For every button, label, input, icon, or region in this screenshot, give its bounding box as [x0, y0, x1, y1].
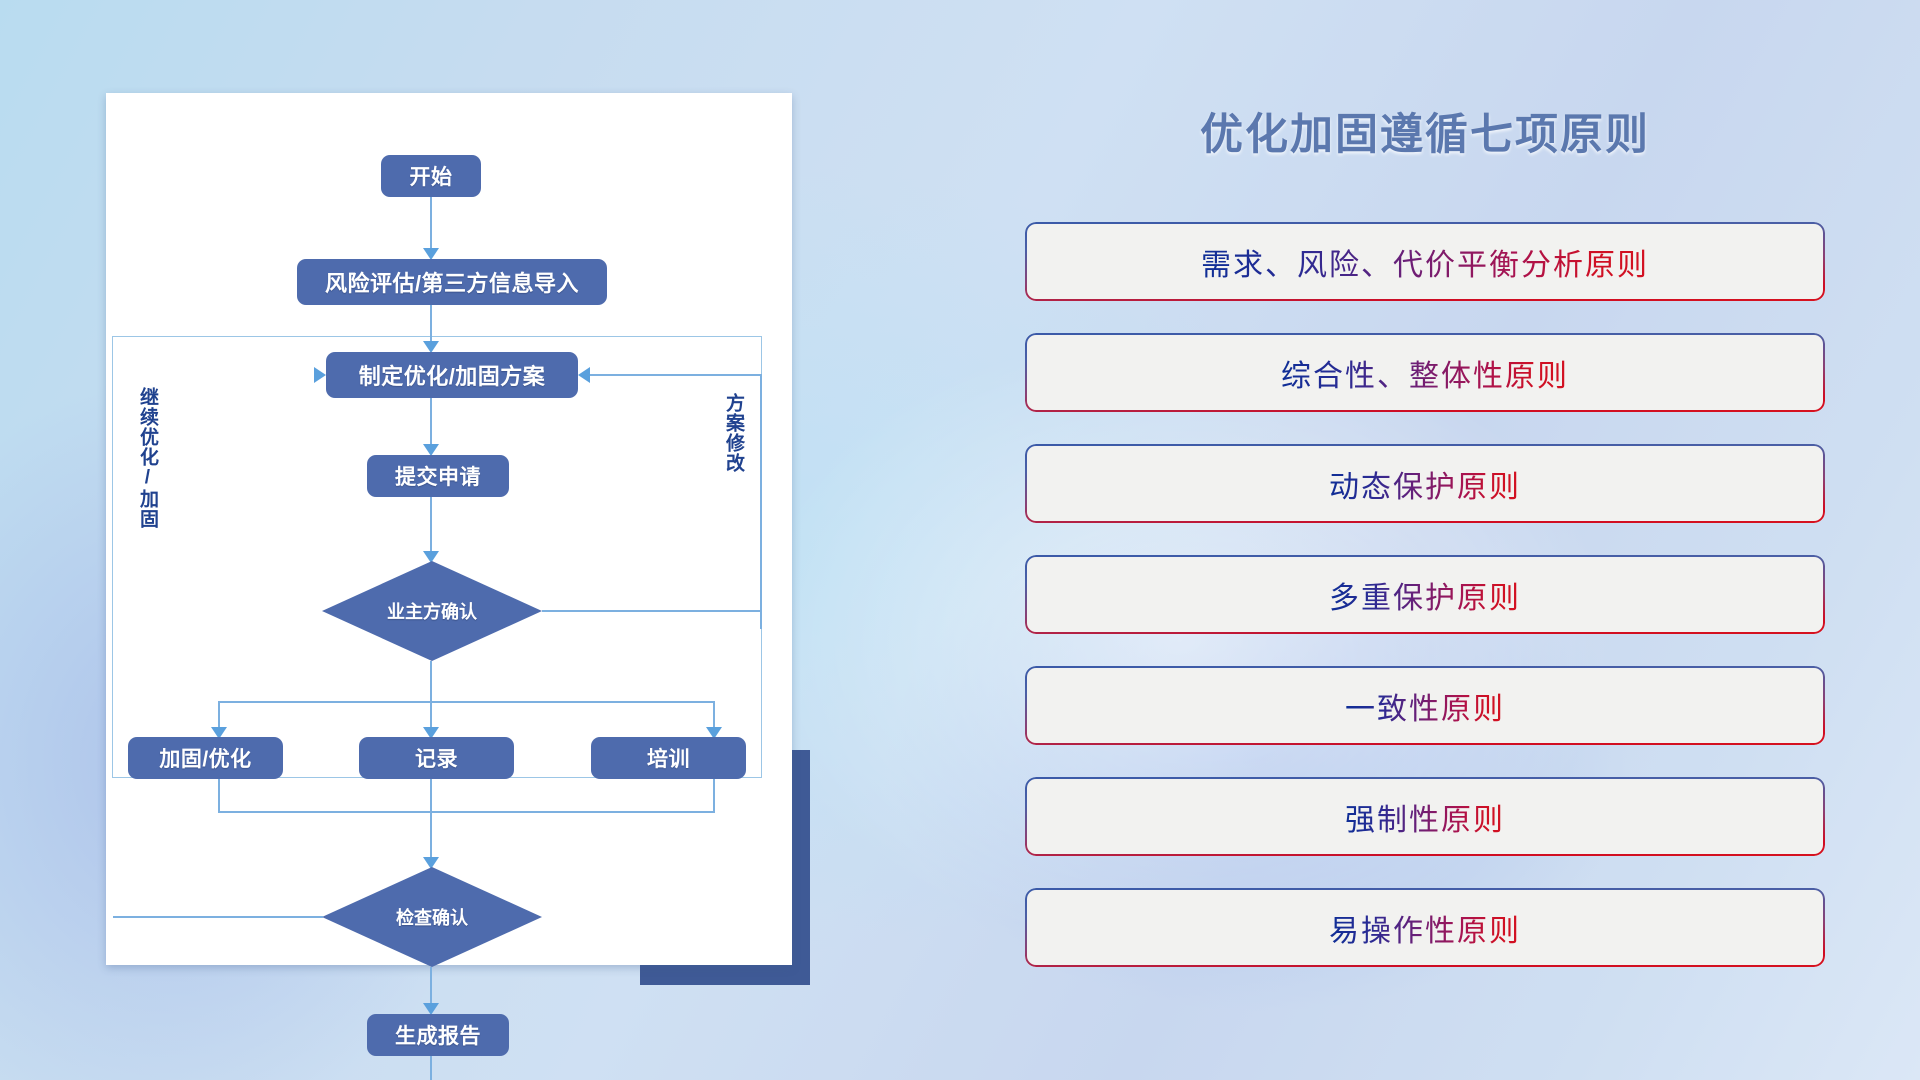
connector-fanout-horizontal	[218, 701, 715, 703]
connector-plan-submit	[430, 398, 432, 450]
flow-node-submit[interactable]: 提交申请	[367, 455, 509, 497]
principle-item-2[interactable]: 综合性、整体性原则	[1025, 333, 1825, 412]
flow-node-check-confirm-label: 检查确认	[396, 904, 468, 930]
connector-owner-down	[430, 661, 432, 703]
principle-label-4: 多重保护原则	[1329, 573, 1521, 617]
connector-merge-horizontal	[218, 811, 715, 813]
connector-check-to-left-loop	[113, 916, 323, 918]
connector-reinforce-down	[218, 779, 220, 813]
edge-label-left-loop-text: 继续优化/加固	[137, 387, 158, 529]
connector-submit-owner	[430, 497, 432, 557]
principle-label-1: 需求、风险、代价平衡分析原则	[1201, 240, 1649, 284]
connector-right-loop-horizontal-top	[590, 374, 762, 376]
arrowhead-submit-owner	[423, 551, 439, 563]
flow-node-plan-label: 制定优化/加固方案	[359, 359, 546, 391]
connector-report-end	[430, 1056, 432, 1080]
flow-node-reinforce-label: 加固/优化	[159, 743, 251, 773]
principle-label-5: 一致性原则	[1345, 684, 1505, 728]
principles-list: 需求、风险、代价平衡分析原则 综合性、整体性原则 动态保护原则 多重保护原则 一…	[1025, 222, 1825, 999]
principle-item-5[interactable]: 一致性原则	[1025, 666, 1825, 745]
flow-node-submit-label: 提交申请	[395, 461, 481, 491]
principle-label-7: 易操作性原则	[1329, 906, 1521, 950]
flowchart-card: 开始 风险评估/第三方信息导入 制定优化/加固方案	[106, 93, 792, 965]
flow-node-report[interactable]: 生成报告	[367, 1014, 509, 1056]
flow-node-plan[interactable]: 制定优化/加固方案	[326, 352, 578, 398]
slide-canvas: 开始 风险评估/第三方信息导入 制定优化/加固方案	[0, 0, 1920, 1080]
arrowhead-left-loop-into-plan	[314, 367, 326, 383]
connector-record-to-check	[430, 779, 432, 863]
principle-item-1[interactable]: 需求、风险、代价平衡分析原则	[1025, 222, 1825, 301]
principle-label-6: 强制性原则	[1345, 795, 1505, 839]
flow-node-risk-assessment[interactable]: 风险评估/第三方信息导入	[297, 259, 607, 305]
arrowhead-to-check	[423, 857, 439, 869]
principle-item-3[interactable]: 动态保护原则	[1025, 444, 1825, 523]
flow-node-risk-assessment-label: 风险评估/第三方信息导入	[325, 266, 579, 298]
flow-node-report-label: 生成报告	[395, 1020, 481, 1050]
panel-title: 优化加固遵循七项原则	[1020, 100, 1830, 162]
principle-item-7[interactable]: 易操作性原则	[1025, 888, 1825, 967]
flow-node-owner-confirm-label: 业主方确认	[387, 598, 477, 624]
principle-label-2: 综合性、整体性原则	[1281, 351, 1569, 395]
connector-right-loop-vertical	[760, 374, 762, 629]
edge-label-left-loop: 继续优化/加固	[137, 387, 157, 555]
flow-node-reinforce[interactable]: 加固/优化	[128, 737, 283, 779]
connector-training-down	[713, 779, 715, 813]
principle-label-3: 动态保护原则	[1329, 462, 1521, 506]
flow-node-record-label: 记录	[415, 743, 458, 773]
flow-node-start-label: 开始	[410, 161, 453, 191]
principles-panel: 优化加固遵循七项原则 需求、风险、代价平衡分析原则 综合性、整体性原则 动态保护…	[1020, 100, 1830, 1000]
flow-node-training[interactable]: 培训	[591, 737, 746, 779]
connector-owner-to-right-loop	[542, 610, 762, 612]
connector-start-risk	[430, 197, 432, 254]
edge-label-right-loop-text: 方案修改	[723, 393, 744, 473]
flow-node-check-confirm[interactable]: 检查确认	[322, 867, 542, 967]
flow-node-training-label: 培训	[647, 743, 690, 773]
arrowhead-right-loop-into-plan	[578, 367, 590, 383]
flowchart-diagram: 开始 风险评估/第三方信息导入 制定优化/加固方案	[106, 93, 792, 965]
edge-label-right-loop: 方案修改	[723, 393, 743, 513]
principle-item-4[interactable]: 多重保护原则	[1025, 555, 1825, 634]
flow-node-start[interactable]: 开始	[381, 155, 481, 197]
principle-item-6[interactable]: 强制性原则	[1025, 777, 1825, 856]
flow-node-record[interactable]: 记录	[359, 737, 514, 779]
